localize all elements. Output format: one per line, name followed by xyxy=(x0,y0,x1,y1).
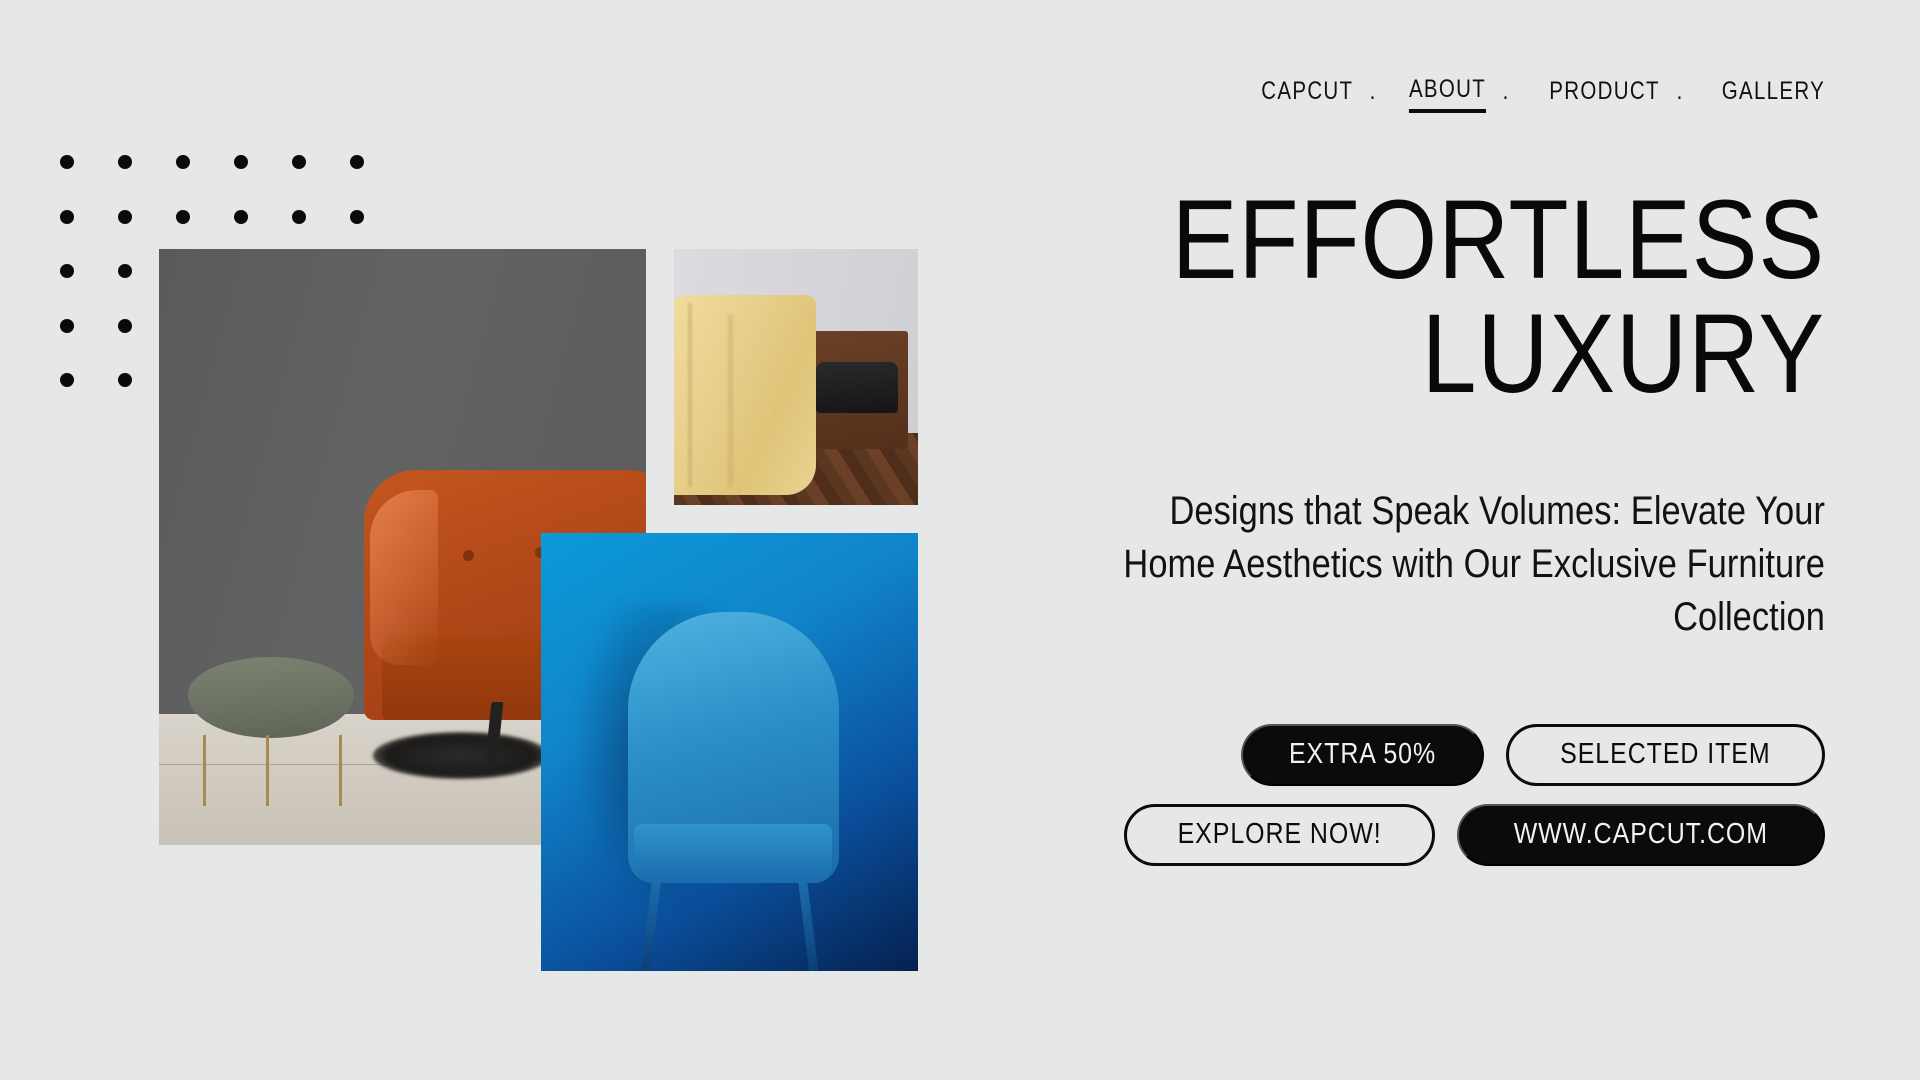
yellow-cloth xyxy=(674,295,816,495)
nav-separator: . xyxy=(1370,77,1376,111)
sofa-highlight xyxy=(370,490,439,665)
sofa-tuft-button xyxy=(463,550,474,561)
nav-separator: . xyxy=(1503,77,1509,111)
hero-headline: EFFORTLESS LUXURY xyxy=(1086,183,1825,411)
explore-now-button[interactable]: EXPLORE NOW! xyxy=(1124,804,1435,866)
nav-item-product[interactable]: PRODUCT xyxy=(1549,77,1660,111)
ottoman-leg xyxy=(203,735,206,807)
ottoman-leg xyxy=(339,735,342,807)
nav-item-capcut[interactable]: CAPCUT xyxy=(1261,77,1353,111)
button-label: SELECTED ITEM xyxy=(1560,738,1770,771)
green-ottoman xyxy=(188,657,354,737)
image-collage xyxy=(0,0,960,1080)
headline-line-1: EFFORTLESS xyxy=(1086,183,1825,297)
hero-subcopy: Designs that Speak Volumes: Elevate Your… xyxy=(1103,485,1825,643)
main-navigation: CAPCUT . ABOUT . PRODUCT . GALLERY xyxy=(985,75,1825,113)
blue-chair-photo xyxy=(541,533,918,971)
selected-item-button[interactable]: SELECTED ITEM xyxy=(1506,724,1825,786)
fur-rug xyxy=(373,732,548,780)
button-label: EXPLORE NOW! xyxy=(1178,818,1382,851)
blue-velvet-chair xyxy=(628,612,839,884)
chair-leg xyxy=(797,870,818,971)
ottoman-leg xyxy=(266,735,269,807)
nav-item-gallery[interactable]: GALLERY xyxy=(1722,77,1825,111)
nav-item-about[interactable]: ABOUT xyxy=(1409,75,1486,113)
button-label: WWW.CAPCUT.COM xyxy=(1514,818,1768,851)
button-label: EXTRA 50% xyxy=(1289,738,1436,771)
cta-row-2: EXPLORE NOW! WWW.CAPCUT.COM xyxy=(985,804,1825,866)
nav-separator: . xyxy=(1677,77,1683,111)
cta-button-group: EXTRA 50% SELECTED ITEM EXPLORE NOW! WWW… xyxy=(985,724,1825,866)
website-url-button[interactable]: WWW.CAPCUT.COM xyxy=(1457,804,1825,866)
yellow-drape-photo xyxy=(674,249,918,505)
headline-line-2: LUXURY xyxy=(1086,297,1825,411)
black-cushion xyxy=(816,362,899,413)
cta-row-1: EXTRA 50% SELECTED ITEM xyxy=(985,724,1825,786)
poster-canvas: CAPCUT . ABOUT . PRODUCT . GALLERY EFFOR… xyxy=(0,0,1920,1080)
extra-discount-button[interactable]: EXTRA 50% xyxy=(1241,724,1484,786)
content-column: CAPCUT . ABOUT . PRODUCT . GALLERY EFFOR… xyxy=(985,0,1825,1080)
